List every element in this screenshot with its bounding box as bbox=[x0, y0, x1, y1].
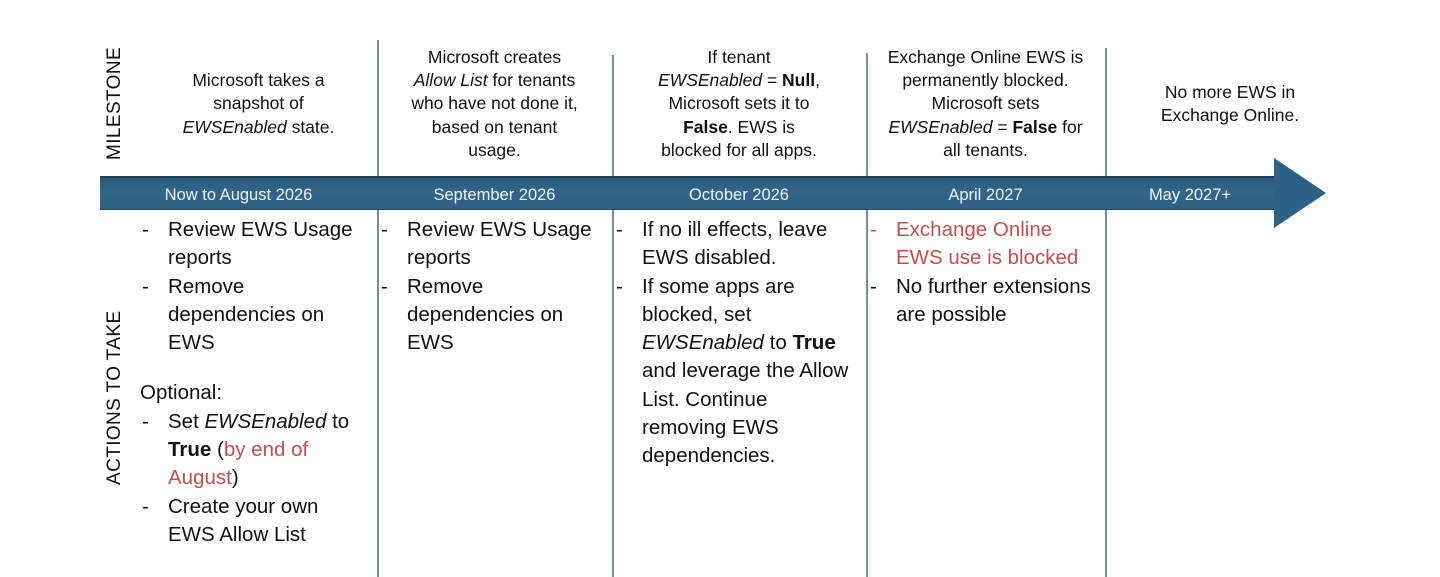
action-item: -Review EWS Usage reports bbox=[140, 216, 365, 273]
row-label-actions-to-take: ACTIONS TO TAKE bbox=[104, 222, 126, 574]
action-item-text: Set EWSEnabled to True (by end of August… bbox=[168, 410, 349, 490]
ews-retirement-timeline: MILESTONE ACTIONS TO TAKE Microsoft take… bbox=[0, 0, 1440, 577]
action-item-text: Review EWS Usage reports bbox=[407, 218, 592, 269]
timeline-period-april-2027: April 2027 bbox=[866, 178, 1105, 212]
actions-list: -Exchange Online EWS use is blocked-No f… bbox=[868, 216, 1093, 329]
milestone-text: Exchange Online EWS ispermanently blocke… bbox=[888, 46, 1084, 162]
action-item-text: Remove dependencies on EWS bbox=[407, 275, 563, 355]
action-item-text: Exchange Online EWS use is blocked bbox=[896, 218, 1078, 269]
timeline-period-label: October 2026 bbox=[689, 186, 789, 205]
actions-cell-april-2027: -Exchange Online EWS use is blocked-No f… bbox=[868, 216, 1105, 329]
action-item: -Exchange Online EWS use is blocked bbox=[868, 216, 1093, 273]
action-item: -Create your own EWS Allow List bbox=[140, 493, 365, 550]
bullet-dash-icon: - bbox=[142, 493, 149, 521]
bullet-dash-icon: - bbox=[616, 216, 623, 244]
bullet-dash-icon: - bbox=[870, 216, 877, 244]
timeline-bar: Now to August 2026September 2026October … bbox=[100, 176, 1275, 210]
actions-cell-now-to-august-2026: -Review EWS Usage reports-Remove depende… bbox=[140, 216, 377, 549]
bullet-dash-icon: - bbox=[142, 408, 149, 436]
action-item: -Set EWSEnabled to True (by end of Augus… bbox=[140, 408, 365, 493]
milestone-cell-may-2027-plus: No more EWS inExchange Online. bbox=[1105, 32, 1355, 176]
timeline-period-label: May 2027+ bbox=[1149, 186, 1231, 205]
timeline-period-may-2027-plus: May 2027+ bbox=[1105, 178, 1275, 212]
action-item-text: If no ill effects, leave EWS disabled. bbox=[642, 218, 827, 269]
actions-spacer bbox=[140, 357, 365, 379]
milestone-text: No more EWS inExchange Online. bbox=[1161, 81, 1299, 128]
milestone-cell-september-2026: Microsoft createsAllow List for tenantsw… bbox=[377, 32, 612, 176]
timeline-period-now-to-august-2026: Now to August 2026 bbox=[100, 178, 377, 212]
action-item: -If some apps are blocked, set EWSEnable… bbox=[614, 273, 854, 471]
actions-cell-september-2026: -Review EWS Usage reports-Remove depende… bbox=[379, 216, 612, 357]
action-item: -Remove dependencies on EWS bbox=[379, 273, 600, 358]
milestone-cell-october-2026: If tenantEWSEnabled = Null,Microsoft set… bbox=[612, 32, 866, 176]
actions-list: -If no ill effects, leave EWS disabled.-… bbox=[614, 216, 854, 471]
action-item-text: If some apps are blocked, set EWSEnabled… bbox=[642, 275, 848, 468]
milestone-text: Microsoft takes asnapshot ofEWSEnabled s… bbox=[183, 69, 335, 139]
action-item-text: No further extensions are possible bbox=[896, 275, 1091, 326]
actions-row: -Review EWS Usage reports-Remove depende… bbox=[140, 216, 1430, 577]
bullet-dash-icon: - bbox=[142, 273, 149, 301]
action-item: -Remove dependencies on EWS bbox=[140, 273, 365, 358]
bullet-dash-icon: - bbox=[142, 216, 149, 244]
action-item-text: Review EWS Usage reports bbox=[168, 218, 353, 269]
actions-subheading: Optional: bbox=[140, 379, 365, 407]
actions-cell-october-2026: -If no ill effects, leave EWS disabled.-… bbox=[614, 216, 866, 471]
bullet-dash-icon: - bbox=[381, 273, 388, 301]
action-item-text: Create your own EWS Allow List bbox=[168, 495, 318, 546]
bullet-dash-icon: - bbox=[381, 216, 388, 244]
action-item: -No further extensions are possible bbox=[868, 273, 1093, 330]
actions-list: -Review EWS Usage reports-Remove depende… bbox=[140, 216, 365, 549]
timeline-period-september-2026: September 2026 bbox=[377, 178, 612, 212]
timeline-period-label: September 2026 bbox=[433, 186, 555, 205]
row-label-milestone: MILESTONE bbox=[104, 32, 126, 174]
bullet-dash-icon: - bbox=[616, 273, 623, 301]
milestone-cell-april-2027: Exchange Online EWS ispermanently blocke… bbox=[866, 32, 1105, 176]
bullet-dash-icon: - bbox=[870, 273, 877, 301]
timeline-period-october-2026: October 2026 bbox=[612, 178, 866, 212]
milestone-cell-now-to-august-2026: Microsoft takes asnapshot ofEWSEnabled s… bbox=[140, 32, 377, 176]
action-item-text: Remove dependencies on EWS bbox=[168, 275, 324, 355]
milestone-text: If tenantEWSEnabled = Null,Microsoft set… bbox=[658, 46, 820, 162]
timeline-period-label: April 2027 bbox=[948, 186, 1022, 205]
action-item: -If no ill effects, leave EWS disabled. bbox=[614, 216, 854, 273]
action-item: -Review EWS Usage reports bbox=[379, 216, 600, 273]
milestone-text: Microsoft createsAllow List for tenantsw… bbox=[411, 46, 577, 162]
milestone-row: Microsoft takes asnapshot ofEWSEnabled s… bbox=[140, 32, 1430, 176]
timeline-period-label: Now to August 2026 bbox=[165, 186, 313, 205]
actions-list: -Review EWS Usage reports-Remove depende… bbox=[379, 216, 600, 357]
